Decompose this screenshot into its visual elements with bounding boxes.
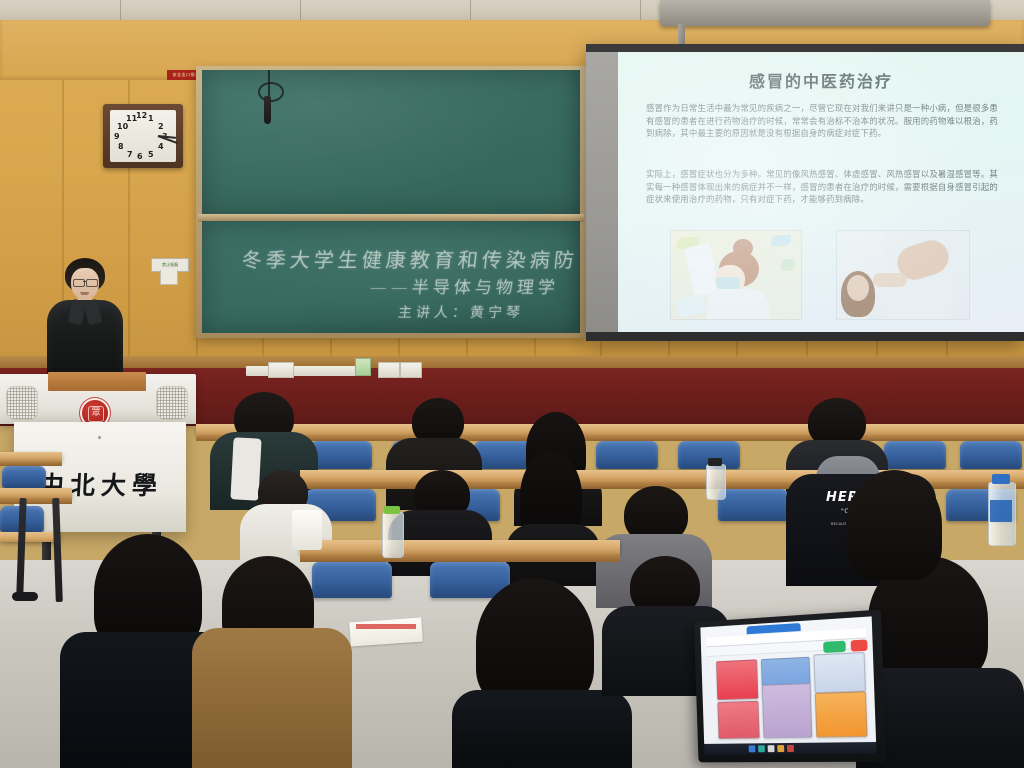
clock-numeral-2: 2 [158,122,164,131]
projection-screen-bottom-bar [586,332,1024,341]
thermos-cup [292,510,322,550]
glasses-right-lens-icon [86,279,98,287]
taskbar[interactable] [704,742,876,755]
slide-paragraph-1: 感冒作为日常生活中最为常见的疾病之一，尽管它现在对我们来讲只是一种小病，但是很多… [646,102,998,140]
handout-paper [349,618,422,647]
side-desk-3 [0,532,60,542]
clock-numeral-10: 10 [117,122,128,131]
clock-numeral-11: 11 [126,114,137,123]
projection-screen-top-bar [586,44,1024,52]
microphone-icon [264,96,271,124]
seat-a1 [310,441,372,469]
template-card-3[interactable] [813,652,865,693]
desk-row-c-left [300,540,620,554]
stage-box-2 [378,362,400,378]
clock-numeral-8: 8 [118,142,124,151]
side-chair-foot [12,592,38,601]
template-card-4[interactable] [717,701,759,739]
desk-row-a [196,424,1024,435]
water-bottle-cap-right [992,474,1010,484]
hanging-loop [258,82,284,102]
stage-box-3 [400,362,422,378]
podium-speaker-left [6,386,38,420]
slide-paragraph-2: 实际上，感冒症状也分为多种。常见的像风热感冒、体虚感冒、风热感冒以及暑湿感冒等。… [646,168,998,206]
strap-graphic [230,437,261,500]
university-seal-glyph: 眾 [88,406,104,422]
clock-numeral-12: 12 [136,111,147,120]
handout-paper-header [356,624,416,629]
stage-papers [246,366,366,376]
template-card-6[interactable] [815,691,868,737]
taskbar-icon-3[interactable] [768,745,775,752]
clock-numeral-6: 6 [137,152,143,161]
side-seat-1 [2,466,46,488]
blackboard-title-line: 冬季大学生健康教育和传染病防 [240,244,579,273]
laptop-screen[interactable] [700,616,876,754]
new-document-button[interactable] [823,641,846,653]
taskbar-icon-5[interactable] [787,745,794,752]
side-desk-2-edge [0,498,72,504]
seat-a6 [884,441,946,469]
close-button[interactable] [851,639,868,651]
slide-photo-taking-medicine [836,230,970,320]
app-sidebar[interactable] [701,657,713,743]
template-card-5[interactable] [762,683,813,738]
clock-numeral-4: 4 [158,142,164,151]
clock-numeral-5: 5 [148,150,154,159]
seat-a7 [960,441,1022,469]
side-desk-1 [0,452,62,461]
projector-screen-mount [660,0,990,26]
bottle-center [706,464,726,500]
clock-numeral-1: 1 [148,114,154,123]
clock-numeral-9: 9 [114,132,120,141]
bottle-row-c [382,512,404,558]
stage-box-1 [268,362,294,378]
podium-wood-trim [48,372,146,391]
wall-notice-paper [160,270,178,285]
lecture-hall-photo: 12 1 2 3 4 5 6 7 8 9 10 11 安全出口指示 禁止吸烟 冬… [0,0,1024,768]
slide-title: 感冒的中医药治疗 [618,68,1024,92]
bottle-row-c-cap [384,506,400,514]
presentation-slide: 感冒的中医药治疗 感冒作为日常生活中最为常见的疾病之一，尽管它现在对我们来讲只是… [618,52,1024,332]
seat-b3 [718,489,788,521]
stage-green-box [355,358,371,376]
water-bottle-label [990,500,1012,522]
taskbar-icon-1[interactable] [749,745,756,752]
blackboard-speaker-line: 主讲人：黄宁琴 [397,302,525,322]
blackboard-subtitle-line: ——半导体与物理学 [369,273,561,298]
seat-a4 [596,441,658,469]
seat-c1 [312,562,392,598]
glasses-bridge-icon [83,281,86,282]
desk-row-c-left-edge [300,554,620,562]
template-card-1[interactable] [716,659,758,700]
bottle-center-cap [708,458,722,466]
clock-numeral-7: 7 [127,150,133,159]
taskbar-icon-2[interactable] [758,745,765,752]
taskbar-icon-4[interactable] [777,745,784,752]
slide-illustration-sneezing [670,230,802,320]
podium-screw [98,436,101,439]
side-desk-2 [0,488,72,498]
podium-speaker-right [156,386,188,420]
